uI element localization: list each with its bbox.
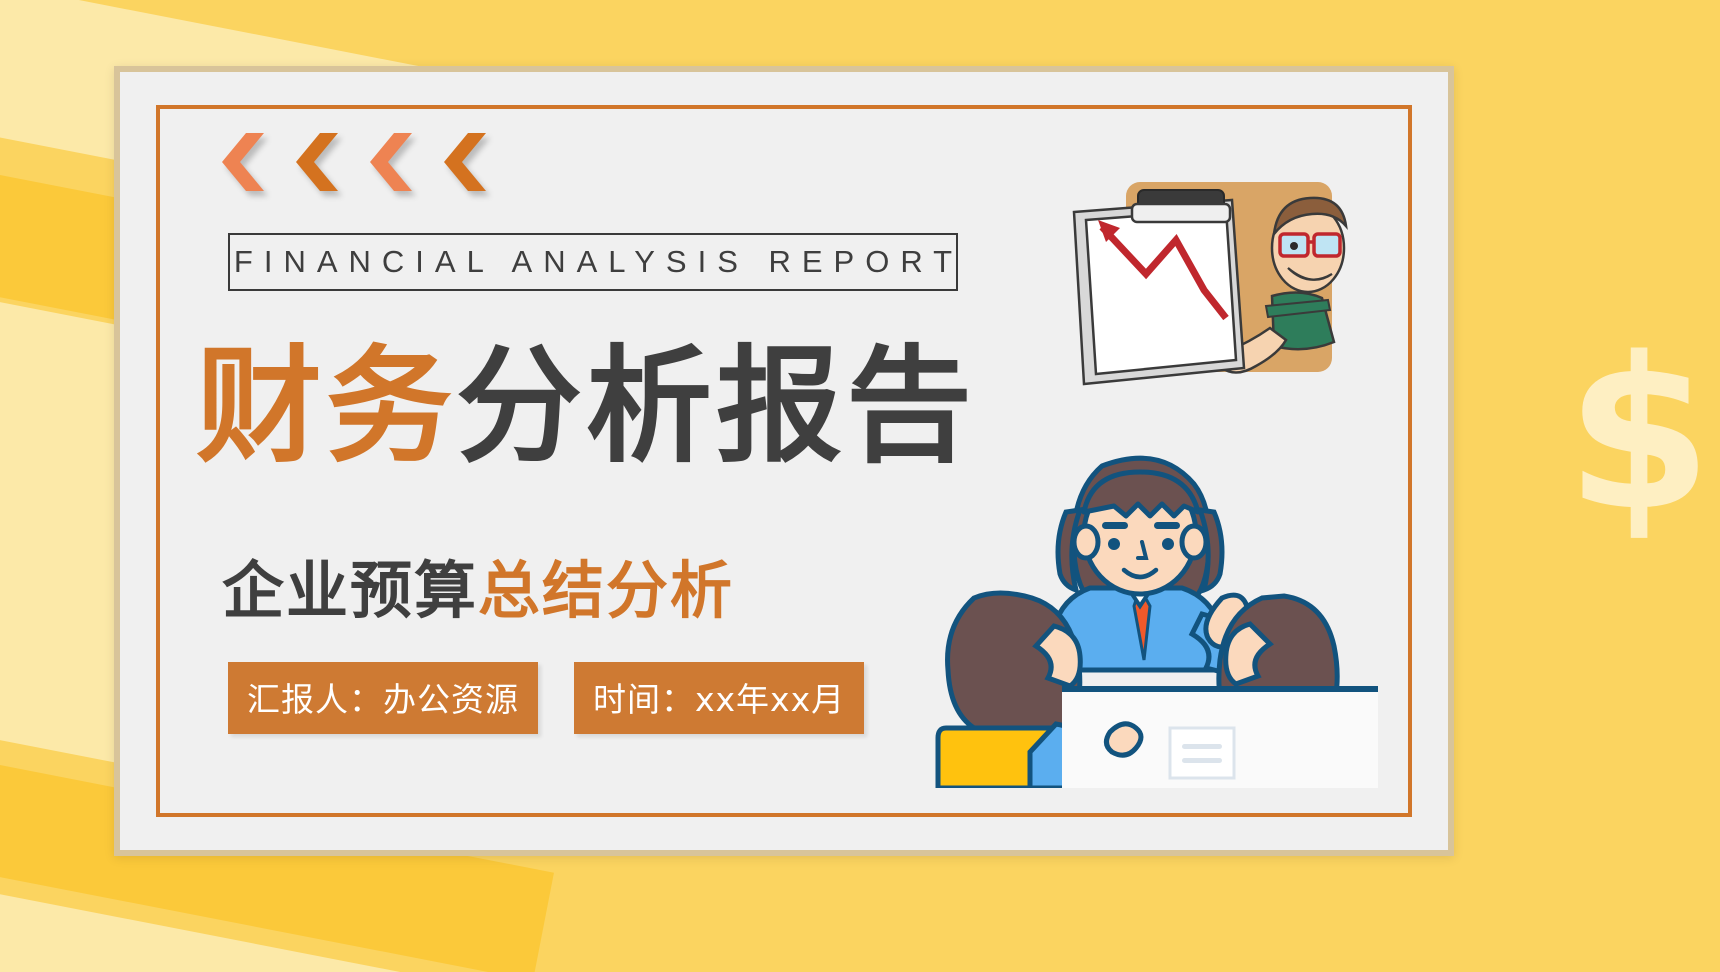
chevron-left-icon-1 <box>222 133 270 191</box>
dollar-sign-icon: $ <box>1566 330 1712 540</box>
page-subtitle-dark: 企业预算 <box>222 554 478 627</box>
page-subtitle-orange: 总结分析 <box>478 554 734 627</box>
meeting-illustration <box>858 438 1378 788</box>
chevron-left-icon-2 <box>296 133 344 191</box>
slide-root: $ FINANCIAL ANALYSIS REPORT 财务分析报告 企业预算总… <box>0 0 1720 972</box>
clipboard-presenter-illustration <box>1040 178 1370 408</box>
date-badge: 时间：xx年xx月 <box>574 662 864 734</box>
chevron-group <box>222 133 492 191</box>
chevron-left-icon-4 <box>444 133 492 191</box>
presenter-badge: 汇报人：办公资源 <box>228 662 538 734</box>
page-subtitle: 企业预算总结分析 <box>222 540 734 630</box>
page-title-orange: 财务 <box>196 333 456 480</box>
chevron-left-icon-3 <box>370 133 418 191</box>
english-title: FINANCIAL ANALYSIS REPORT <box>223 244 963 280</box>
english-title-box: FINANCIAL ANALYSIS REPORT <box>228 233 958 291</box>
meta-badge-group: 汇报人：办公资源 时间：xx年xx月 <box>228 662 864 734</box>
